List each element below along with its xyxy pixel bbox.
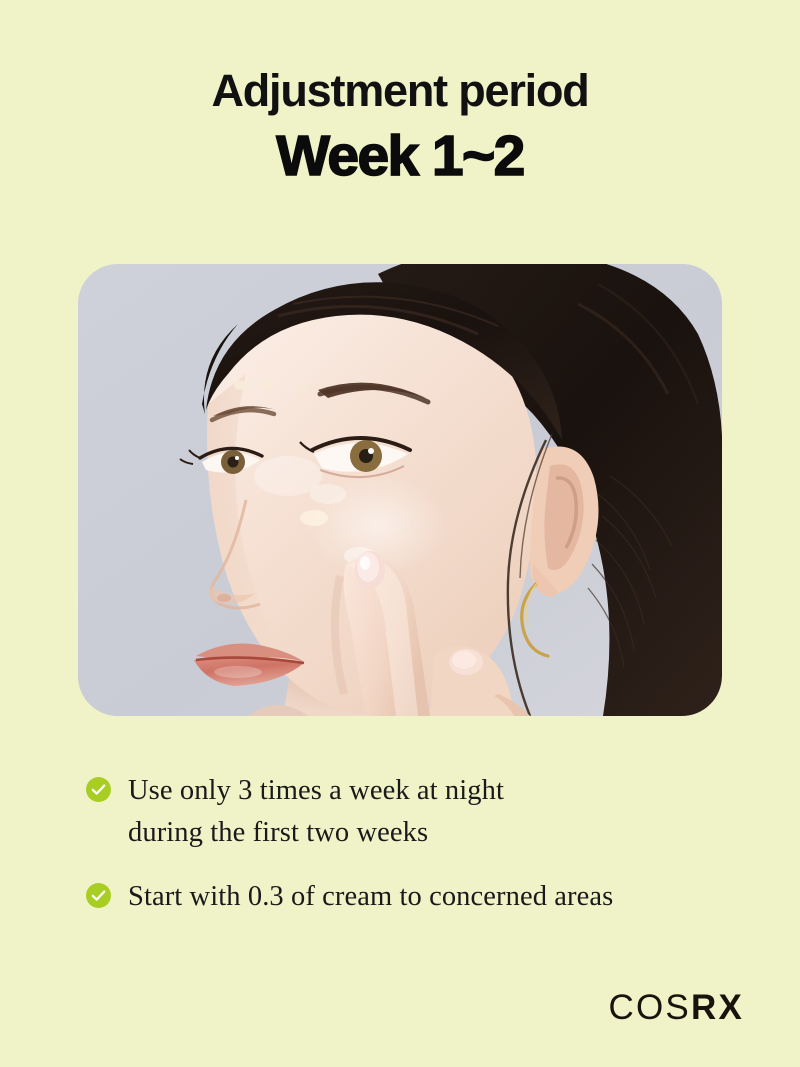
heading-block: Adjustment period Week 1~2: [0, 68, 800, 187]
list-item: Use only 3 times a week at night during …: [86, 770, 746, 854]
check-circle-icon: [86, 883, 111, 908]
check-circle-icon: [86, 777, 111, 802]
list-item-label: Start with 0.3 of cream to concerned are…: [128, 876, 613, 918]
portrait-illustration: [78, 264, 722, 716]
page-title: Week 1~2: [0, 126, 800, 188]
promo-card: Adjustment period Week 1~2: [0, 0, 800, 1067]
benefits-list: Use only 3 times a week at night during …: [86, 770, 746, 918]
list-item-label: Use only 3 times a week at night during …: [128, 770, 504, 854]
list-item: Start with 0.3 of cream to concerned are…: [86, 876, 746, 918]
brand-logo: COSRX: [609, 990, 744, 1025]
page-title-eyebrow: Adjustment period: [0, 68, 800, 114]
brand-logo-light: COS: [609, 988, 691, 1027]
hero-photo: [78, 264, 722, 716]
brand-logo-bold: RX: [691, 988, 744, 1027]
